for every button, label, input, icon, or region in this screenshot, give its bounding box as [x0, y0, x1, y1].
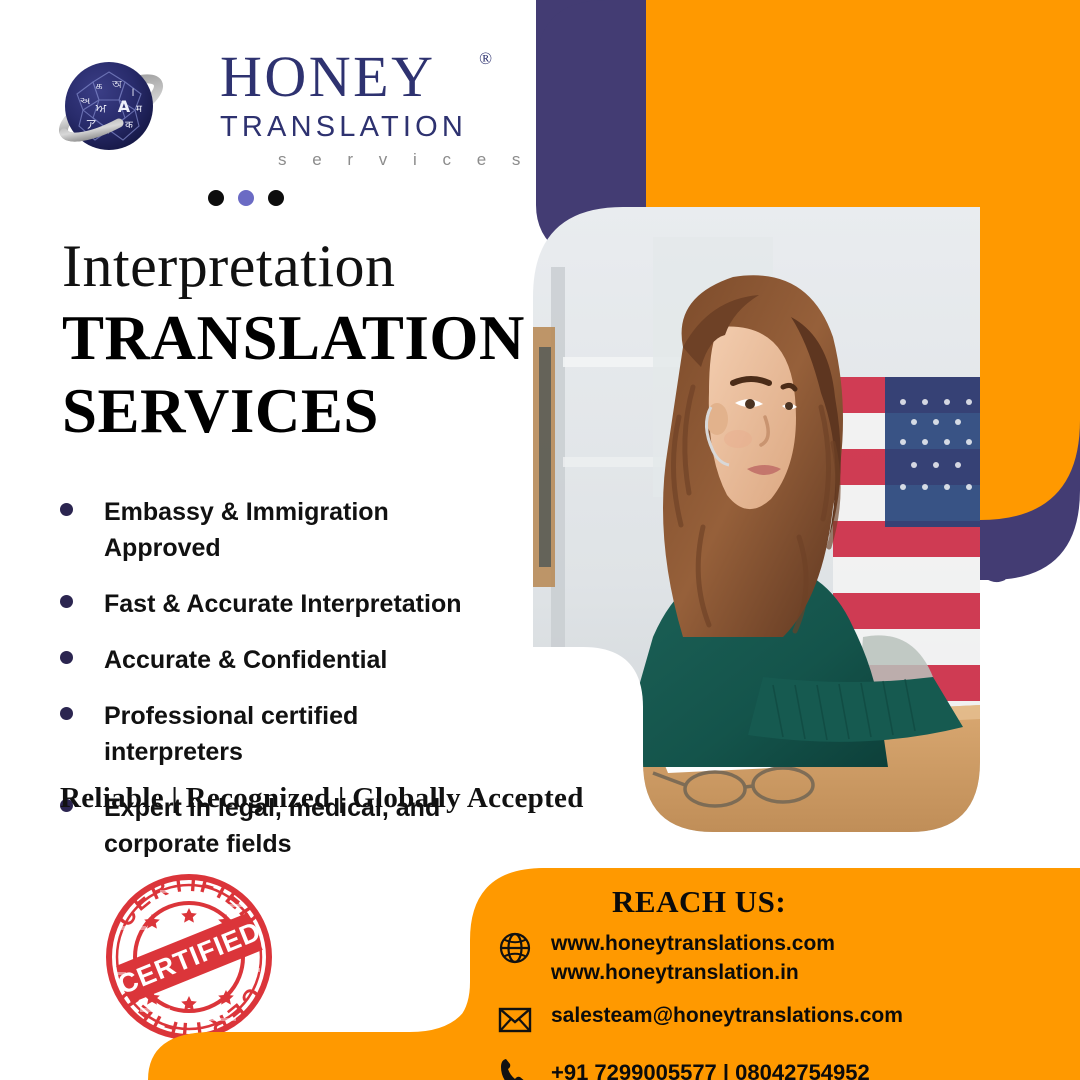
svg-text:અ: અ: [80, 96, 91, 107]
bullet-dot-icon: [60, 503, 73, 516]
logo-wordmark: HONEY ® TRANSLATION s e r v i c e s: [220, 48, 470, 171]
tagline: Reliable | Recognized | Globally Accepte…: [60, 780, 584, 816]
interpreter-photo: [533, 207, 980, 832]
logo-name: HONEY ®: [220, 48, 470, 106]
logo-name-text: HONEY: [220, 44, 435, 109]
contact-row-email[interactable]: salesteam@honeytranslations.com: [495, 1000, 1055, 1040]
globe-logo-icon: க অ ا અ ਅ A म ア த क: [55, 52, 167, 164]
logo-line-translation: TRANSLATION: [220, 110, 470, 144]
dot-2: [238, 190, 254, 206]
phone-icon: [495, 1054, 535, 1080]
email-address: salesteam@honeytranslations.com: [551, 1000, 903, 1029]
list-item-label: Accurate & Confidential: [104, 642, 387, 678]
list-item: Embassy & Immigration Approved: [56, 494, 526, 566]
svg-text:অ: অ: [111, 78, 122, 91]
svg-text:ا: ا: [132, 88, 135, 99]
reach-us-title: REACH US:: [612, 884, 786, 920]
headline-block: Interpretation TRANSLATION SERVICES: [62, 233, 532, 445]
contact-list: www.honeytranslations.com www.honeytrans…: [495, 928, 1055, 1080]
contact-row-phone[interactable]: +91 7299005577 | 08042754952: [495, 1054, 1055, 1080]
list-item: Fast & Accurate Interpretation: [56, 586, 526, 622]
contact-row-website[interactable]: www.honeytranslations.com www.honeytrans…: [495, 928, 1055, 986]
globe-icon: [495, 928, 535, 968]
purple-band-corner: [536, 0, 640, 90]
headline-bold-line2: SERVICES: [62, 378, 532, 445]
bullet-dot-icon: [60, 707, 73, 720]
bullet-dot-icon: [60, 595, 73, 608]
registered-trademark-icon: ®: [479, 50, 492, 67]
list-item: Accurate & Confidential: [56, 642, 526, 678]
website-line-1: www.honeytranslations.com: [551, 928, 835, 957]
svg-text:म: म: [136, 104, 143, 115]
website-line-2: www.honeytranslation.in: [551, 957, 835, 986]
list-item: Professional certified interpreters: [56, 698, 526, 770]
bullet-dot-icon: [60, 651, 73, 664]
svg-text:ਅ: ਅ: [95, 101, 107, 115]
website-lines: www.honeytranslations.com www.honeytrans…: [551, 928, 835, 986]
svg-text:क: क: [125, 120, 133, 131]
list-item-label: Professional certified interpreters: [104, 698, 504, 770]
svg-text:A: A: [118, 97, 131, 116]
svg-text:க: க: [95, 79, 102, 92]
decorative-dots: [208, 190, 284, 206]
list-item-label: Embassy & Immigration Approved: [104, 494, 504, 566]
dot-1: [208, 190, 224, 206]
certified-stamp-icon: CERTIFIED CERTIFIED CERTIFIED: [100, 868, 278, 1046]
logo-line-services: s e r v i c e s: [278, 149, 470, 171]
headline-script: Interpretation: [62, 233, 532, 299]
poster-canvas: க অ ا અ ਅ A म ア த क HONEY ® TRANSLATION …: [0, 0, 1080, 1080]
dot-3: [268, 190, 284, 206]
phone-numbers: +91 7299005577 | 08042754952: [551, 1054, 870, 1080]
list-item-label: Fast & Accurate Interpretation: [104, 586, 461, 622]
headline-bold-line1: TRANSLATION: [62, 305, 532, 372]
envelope-icon: [495, 1000, 535, 1040]
orange-panel-corner: [646, 60, 700, 120]
